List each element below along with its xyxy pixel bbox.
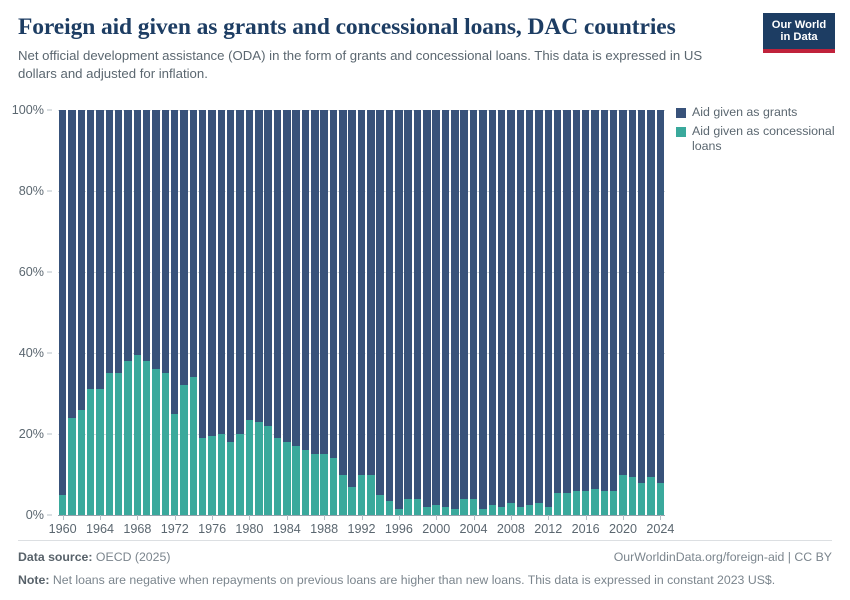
bar-segment-concessional-loans — [657, 483, 664, 515]
bar-segment-grants — [87, 110, 94, 389]
bar-segment-concessional-loans — [339, 475, 346, 516]
bar-segment-concessional-loans — [302, 450, 309, 515]
plot-area — [58, 110, 665, 515]
chart-subtitle: Net official development assistance (ODA… — [18, 47, 738, 83]
bar-segment-concessional-loans — [218, 434, 225, 515]
bar-segment-grants — [190, 110, 197, 377]
bar-segment-concessional-loans — [591, 489, 598, 515]
legend-item[interactable]: Aid given as grants — [676, 105, 846, 120]
bar-segment-concessional-loans — [535, 503, 542, 515]
bar-segment-concessional-loans — [545, 507, 552, 515]
bar-segment-grants — [629, 110, 636, 477]
bar-segment-grants — [395, 110, 402, 509]
bar-column[interactable] — [171, 110, 178, 515]
bar-column[interactable] — [190, 110, 197, 515]
bar-column[interactable] — [414, 110, 421, 515]
bar-segment-concessional-loans — [442, 507, 449, 515]
bar-series-container — [58, 110, 665, 515]
x-axis-tick-label: 1984 — [273, 522, 301, 536]
bar-segment-concessional-loans — [470, 499, 477, 515]
x-axis-tick-mark — [287, 515, 288, 520]
x-axis-tick-mark — [399, 515, 400, 520]
x-axis-tick-mark — [436, 515, 437, 520]
x-axis-tick-mark — [212, 515, 213, 520]
bar-segment-grants — [376, 110, 383, 495]
bar-segment-concessional-loans — [330, 458, 337, 515]
bar-column[interactable] — [236, 110, 243, 515]
chart-footer: Data source: OECD (2025) OurWorldinData.… — [18, 540, 832, 590]
data-source: Data source: OECD (2025) — [18, 549, 170, 567]
bar-column[interactable] — [376, 110, 383, 515]
bar-segment-concessional-loans — [638, 483, 645, 515]
bar-column[interactable] — [563, 110, 570, 515]
bar-column[interactable] — [246, 110, 253, 515]
bar-segment-concessional-loans — [106, 373, 113, 515]
bar-column[interactable] — [330, 110, 337, 515]
bar-column[interactable] — [535, 110, 542, 515]
bar-segment-grants — [507, 110, 514, 503]
bar-segment-concessional-loans — [311, 454, 318, 515]
bar-column[interactable] — [470, 110, 477, 515]
bar-segment-concessional-loans — [320, 454, 327, 515]
bar-column[interactable] — [395, 110, 402, 515]
bar-segment-concessional-loans — [517, 507, 524, 515]
bar-segment-concessional-loans — [68, 418, 75, 515]
bar-segment-grants — [545, 110, 552, 507]
bar-column[interactable] — [629, 110, 636, 515]
bar-segment-grants — [320, 110, 327, 454]
bar-segment-concessional-loans — [432, 505, 439, 515]
bar-segment-grants — [171, 110, 178, 414]
bar-segment-grants — [115, 110, 122, 373]
bar-segment-grants — [591, 110, 598, 489]
bar-column[interactable] — [227, 110, 234, 515]
bar-segment-grants — [479, 110, 486, 509]
data-source-value: OECD (2025) — [96, 550, 171, 564]
bar-column[interactable] — [367, 110, 374, 515]
bar-segment-concessional-loans — [526, 505, 533, 515]
bar-segment-grants — [554, 110, 561, 493]
bar-column[interactable] — [115, 110, 122, 515]
bar-segment-concessional-loans — [386, 501, 393, 515]
x-axis-tick-mark — [137, 515, 138, 520]
x-axis-tick-label: 2008 — [497, 522, 525, 536]
bar-column[interactable] — [619, 110, 626, 515]
bar-segment-concessional-loans — [124, 361, 131, 515]
x-axis-tick-mark — [511, 515, 512, 520]
bar-segment-grants — [339, 110, 346, 475]
bar-segment-grants — [124, 110, 131, 361]
bar-column[interactable] — [451, 110, 458, 515]
bar-segment-concessional-loans — [563, 493, 570, 515]
bar-column[interactable] — [124, 110, 131, 515]
bar-column[interactable] — [442, 110, 449, 515]
bar-segment-grants — [68, 110, 75, 418]
bar-column[interactable] — [180, 110, 187, 515]
bar-segment-grants — [423, 110, 430, 507]
bar-segment-grants — [264, 110, 271, 426]
bar-column[interactable] — [498, 110, 505, 515]
x-axis-tick-label: 1964 — [86, 522, 114, 536]
bar-segment-concessional-loans — [498, 507, 505, 515]
bar-column[interactable] — [610, 110, 617, 515]
page-title: Foreign aid given as grants and concessi… — [18, 14, 748, 40]
bar-column[interactable] — [87, 110, 94, 515]
x-axis-tick-label: 1976 — [198, 522, 226, 536]
bar-segment-grants — [414, 110, 421, 499]
bar-column[interactable] — [302, 110, 309, 515]
bar-segment-grants — [246, 110, 253, 420]
chart-root: Foreign aid given as grants and concessi… — [0, 0, 850, 600]
y-axis-tick-mark — [47, 272, 52, 273]
x-axis-tick-mark — [362, 515, 363, 520]
bar-segment-grants — [470, 110, 477, 499]
bar-segment-concessional-loans — [348, 487, 355, 515]
bar-segment-grants — [330, 110, 337, 458]
bar-segment-grants — [657, 110, 664, 483]
y-axis-tick-label: 60% — [19, 265, 44, 279]
x-axis-tick-label: 2004 — [460, 522, 488, 536]
chart-legend: Aid given as grantsAid given as concessi… — [676, 105, 846, 158]
bar-segment-grants — [283, 110, 290, 442]
bar-segment-concessional-loans — [208, 436, 215, 515]
bar-column[interactable] — [152, 110, 159, 515]
bar-segment-grants — [292, 110, 299, 446]
x-axis-tick-mark — [548, 515, 549, 520]
bar-segment-grants — [563, 110, 570, 493]
x-axis-tick-label: 2024 — [646, 522, 674, 536]
bar-column[interactable] — [143, 110, 150, 515]
bar-segment-concessional-loans — [507, 503, 514, 515]
y-axis-tick-label: 100% — [12, 103, 44, 117]
bar-column[interactable] — [162, 110, 169, 515]
legend-item[interactable]: Aid given as concessional loans — [676, 124, 846, 154]
y-axis-tick-mark — [47, 110, 52, 111]
bar-segment-concessional-loans — [619, 475, 626, 516]
bar-column[interactable] — [320, 110, 327, 515]
bar-segment-grants — [152, 110, 159, 369]
x-axis-tick-mark — [474, 515, 475, 520]
y-axis-tick-mark — [47, 515, 52, 516]
y-axis-tick-mark — [47, 191, 52, 192]
bar-column[interactable] — [106, 110, 113, 515]
bar-segment-concessional-loans — [190, 377, 197, 515]
bar-column[interactable] — [292, 110, 299, 515]
bar-column[interactable] — [348, 110, 355, 515]
bar-segment-concessional-loans — [96, 389, 103, 515]
x-axis-tick-mark — [660, 515, 661, 520]
bar-column[interactable] — [218, 110, 225, 515]
x-axis-tick-mark — [63, 515, 64, 520]
bar-segment-concessional-loans — [404, 499, 411, 515]
bar-segment-concessional-loans — [115, 373, 122, 515]
bar-column[interactable] — [208, 110, 215, 515]
y-axis-tick-label: 20% — [19, 427, 44, 441]
bar-column[interactable] — [59, 110, 66, 515]
bar-column[interactable] — [582, 110, 589, 515]
chart-note-label: Note: — [18, 573, 49, 587]
bar-segment-grants — [134, 110, 141, 355]
y-axis-tick-mark — [47, 353, 52, 354]
bar-segment-grants — [610, 110, 617, 491]
bar-segment-concessional-loans — [152, 369, 159, 515]
y-axis-tick-label: 0% — [26, 508, 44, 522]
bar-column[interactable] — [199, 110, 206, 515]
bar-segment-grants — [180, 110, 187, 385]
bar-column[interactable] — [358, 110, 365, 515]
x-axis-tick-label: 2012 — [534, 522, 562, 536]
x-axis-tick-label: 1960 — [49, 522, 77, 536]
bar-segment-concessional-loans — [59, 495, 66, 515]
y-axis-tick-mark — [47, 434, 52, 435]
bar-column[interactable] — [96, 110, 103, 515]
bar-segment-grants — [348, 110, 355, 487]
legend-item-label: Aid given as grants — [692, 105, 797, 120]
legend-swatch-icon — [676, 127, 686, 137]
bar-segment-concessional-loans — [143, 361, 150, 515]
bar-segment-grants — [535, 110, 542, 503]
bar-column[interactable] — [68, 110, 75, 515]
owid-logo-line1: Our World — [772, 19, 826, 31]
bar-segment-concessional-loans — [414, 499, 421, 515]
bar-column[interactable] — [591, 110, 598, 515]
bar-column[interactable] — [479, 110, 486, 515]
bar-segment-concessional-loans — [283, 442, 290, 515]
bar-segment-grants — [489, 110, 496, 505]
bar-segment-concessional-loans — [274, 438, 281, 515]
bar-segment-concessional-loans — [171, 414, 178, 515]
bar-column[interactable] — [264, 110, 271, 515]
bar-segment-grants — [582, 110, 589, 491]
bar-segment-grants — [573, 110, 580, 491]
bar-segment-concessional-loans — [180, 385, 187, 515]
bar-segment-grants — [218, 110, 225, 434]
bar-column[interactable] — [283, 110, 290, 515]
bar-segment-concessional-loans — [601, 491, 608, 515]
chart-note-value: Net loans are negative when repayments o… — [53, 573, 775, 587]
bar-segment-grants — [199, 110, 206, 438]
bar-segment-concessional-loans — [423, 507, 430, 515]
bar-segment-concessional-loans — [629, 477, 636, 515]
bar-segment-concessional-loans — [162, 373, 169, 515]
bar-segment-grants — [59, 110, 66, 495]
attribution-link[interactable]: OurWorldinData.org/foreign-aid | CC BY — [614, 549, 832, 567]
bar-column[interactable] — [554, 110, 561, 515]
bar-segment-concessional-loans — [227, 442, 234, 515]
bar-segment-concessional-loans — [460, 499, 467, 515]
bar-column[interactable] — [460, 110, 467, 515]
bar-segment-grants — [255, 110, 262, 422]
bar-segment-concessional-loans — [358, 475, 365, 516]
bar-segment-concessional-loans — [489, 505, 496, 515]
bar-segment-concessional-loans — [573, 491, 580, 515]
bar-segment-concessional-loans — [582, 491, 589, 515]
x-axis-tick-mark — [623, 515, 624, 520]
bar-segment-grants — [386, 110, 393, 501]
bar-column[interactable] — [545, 110, 552, 515]
bar-segment-grants — [78, 110, 85, 410]
y-axis-tick-label: 40% — [19, 346, 44, 360]
bar-column[interactable] — [339, 110, 346, 515]
x-axis-tick-mark — [100, 515, 101, 520]
x-axis-tick-mark — [249, 515, 250, 520]
bar-segment-concessional-loans — [264, 426, 271, 515]
bar-segment-concessional-loans — [610, 491, 617, 515]
bar-segment-grants — [619, 110, 626, 475]
bar-segment-concessional-loans — [78, 410, 85, 515]
bar-segment-grants — [460, 110, 467, 499]
bar-column[interactable] — [404, 110, 411, 515]
x-axis-tick-label: 1968 — [123, 522, 151, 536]
bar-segment-grants — [96, 110, 103, 389]
x-axis-tick-mark — [586, 515, 587, 520]
bar-segment-concessional-loans — [199, 438, 206, 515]
bar-segment-grants — [498, 110, 505, 507]
bar-segment-grants — [638, 110, 645, 483]
bar-segment-grants — [274, 110, 281, 438]
x-axis-tick-label: 1992 — [347, 522, 375, 536]
bar-column[interactable] — [573, 110, 580, 515]
x-axis-tick-mark — [175, 515, 176, 520]
x-axis-tick-label: 1972 — [161, 522, 189, 536]
legend-swatch-icon — [676, 108, 686, 118]
chart-header: Foreign aid given as grants and concessi… — [18, 14, 748, 83]
bar-segment-grants — [162, 110, 169, 373]
x-axis-tick-label: 2016 — [572, 522, 600, 536]
bar-column[interactable] — [78, 110, 85, 515]
x-axis-tick-label: 1996 — [385, 522, 413, 536]
bar-column[interactable] — [657, 110, 664, 515]
bar-segment-grants — [517, 110, 524, 507]
bar-segment-concessional-loans — [87, 389, 94, 515]
bar-segment-grants — [526, 110, 533, 505]
bar-segment-grants — [106, 110, 113, 373]
bar-segment-concessional-loans — [367, 475, 374, 516]
bar-column[interactable] — [432, 110, 439, 515]
bar-column[interactable] — [423, 110, 430, 515]
bar-column[interactable] — [386, 110, 393, 515]
bar-segment-grants — [208, 110, 215, 436]
owid-logo[interactable]: Our World in Data — [763, 13, 835, 53]
bar-column[interactable] — [638, 110, 645, 515]
bar-segment-concessional-loans — [246, 420, 253, 515]
bar-column[interactable] — [601, 110, 608, 515]
bar-segment-grants — [311, 110, 318, 454]
bar-segment-grants — [647, 110, 654, 477]
x-axis-tick-label: 1980 — [235, 522, 263, 536]
bar-segment-grants — [236, 110, 243, 434]
owid-logo-line2: in Data — [780, 31, 817, 43]
x-axis-tick-label: 2020 — [609, 522, 637, 536]
bar-segment-grants — [432, 110, 439, 505]
bar-segment-concessional-loans — [255, 422, 262, 515]
bar-segment-grants — [227, 110, 234, 442]
bar-column[interactable] — [134, 110, 141, 515]
bar-segment-grants — [302, 110, 309, 450]
footer-divider — [18, 540, 832, 541]
bar-column[interactable] — [311, 110, 318, 515]
bar-column[interactable] — [526, 110, 533, 515]
data-source-label: Data source: — [18, 550, 93, 564]
bar-segment-concessional-loans — [554, 493, 561, 515]
bar-segment-concessional-loans — [647, 477, 654, 515]
bar-column[interactable] — [274, 110, 281, 515]
bar-column[interactable] — [507, 110, 514, 515]
bar-segment-concessional-loans — [376, 495, 383, 515]
bar-segment-concessional-loans — [134, 355, 141, 515]
x-axis-tick-mark — [324, 515, 325, 520]
y-axis-tick-label: 80% — [19, 184, 44, 198]
bar-segment-grants — [601, 110, 608, 491]
bar-column[interactable] — [647, 110, 654, 515]
y-axis: 0%20%40%60%80%100% — [0, 110, 52, 515]
bar-segment-grants — [358, 110, 365, 475]
bar-segment-grants — [451, 110, 458, 509]
bar-column[interactable] — [517, 110, 524, 515]
bar-segment-grants — [404, 110, 411, 499]
bar-column[interactable] — [489, 110, 496, 515]
x-axis-tick-label: 1988 — [310, 522, 338, 536]
chart-note: Note: Net loans are negative when repaym… — [18, 572, 832, 590]
bar-segment-grants — [442, 110, 449, 507]
bar-column[interactable] — [255, 110, 262, 515]
bar-segment-concessional-loans — [292, 446, 299, 515]
bar-segment-concessional-loans — [236, 434, 243, 515]
x-axis-tick-label: 2000 — [422, 522, 450, 536]
bar-segment-grants — [367, 110, 374, 475]
legend-item-label: Aid given as concessional loans — [692, 124, 846, 154]
bar-segment-grants — [143, 110, 150, 361]
